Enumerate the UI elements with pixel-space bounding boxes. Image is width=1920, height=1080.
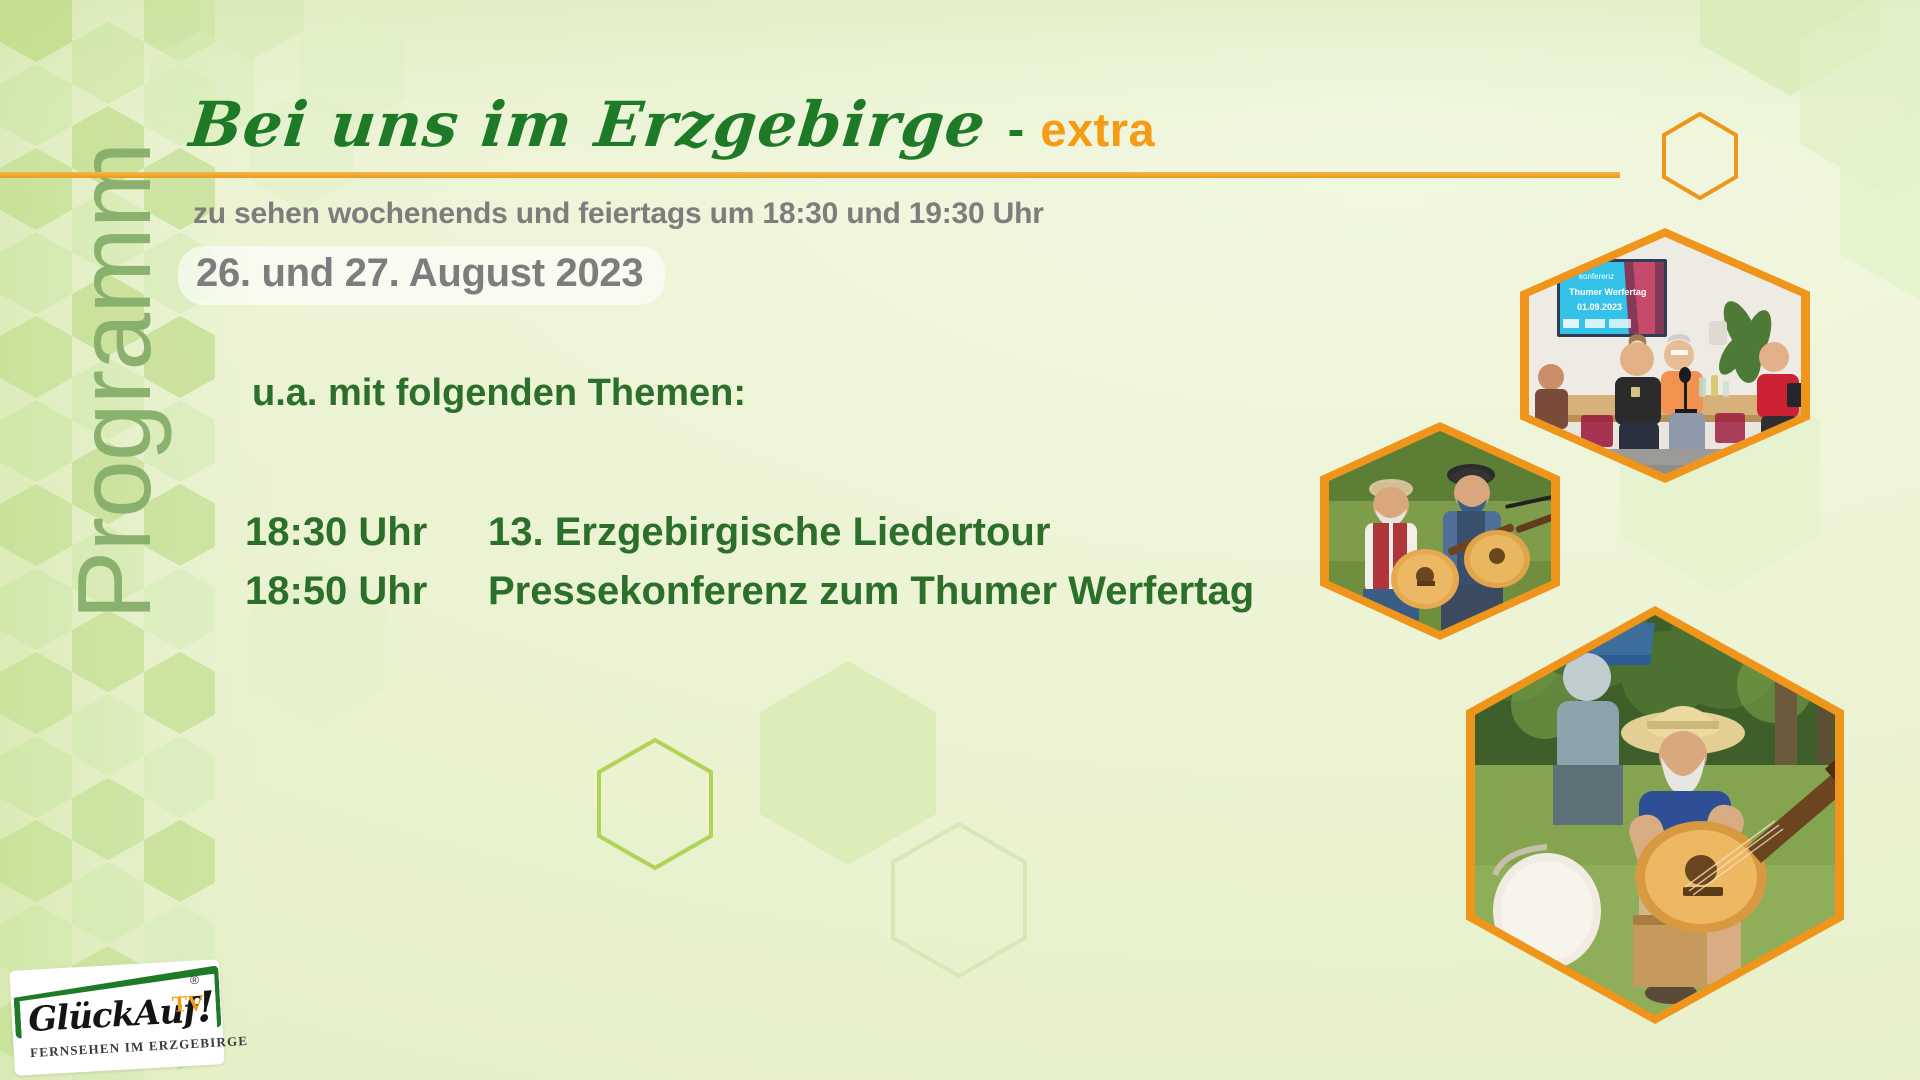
- photo-image: [1475, 615, 1835, 1015]
- date-badge: 26. und 27. August 2023: [178, 246, 665, 305]
- page-title-dash: -: [1008, 100, 1025, 158]
- bg-hex-center-filled: [760, 661, 936, 865]
- screen-caption-line1: konferenz: [1579, 272, 1614, 281]
- bg-hex-center-outline-bright: [599, 740, 711, 868]
- page-title-extra: extra: [1040, 102, 1155, 157]
- schedule-title: 13. Erzgebirgische Liedertour: [488, 510, 1050, 555]
- list-item: 18:30 Uhr 13. Erzgebirgische Liedertour: [245, 510, 1254, 555]
- schedule-title: Pressekonferenz zum Thumer Werfertag: [488, 569, 1254, 614]
- press-conference-photo: konferenz Thumer Werfertag 01.09.2023: [1520, 228, 1810, 483]
- title-underline-rule: [0, 172, 1620, 178]
- broadcast-times-subtitle: zu sehen wochenends und feiertags um 18:…: [193, 197, 1044, 231]
- list-item: 18:50 Uhr Pressekonferenz zum Thumer Wer…: [245, 569, 1254, 614]
- schedule-time: 18:50 Uhr: [245, 569, 488, 614]
- topics-intro-heading: u.a. mit folgenden Themen:: [252, 372, 746, 415]
- guitarist-with-hat-photo: [1466, 606, 1844, 1024]
- page-title-main: Bei uns im Erzgebirge: [186, 88, 989, 161]
- bg-hex-center-outline-faint: [893, 824, 1025, 976]
- schedule-list: 18:30 Uhr 13. Erzgebirgische Liedertour …: [245, 510, 1254, 628]
- sidebar-vertical-label: Programm: [63, 0, 167, 620]
- page-title: Bei uns im Erzgebirge - extra: [190, 88, 1155, 161]
- poster-canvas: Programm Bei uns im Erzgebirge - extra z…: [0, 0, 1920, 1080]
- registered-trademark-icon: ®: [190, 973, 200, 987]
- logo-word-glueck: Glück: [27, 994, 135, 1040]
- schedule-time: 18:30 Uhr: [245, 510, 488, 555]
- channel-logo[interactable]: GlückAuf! TV ® FERNSEHEN IM ERZGEBIRGE: [12, 965, 222, 1070]
- screen-caption-line2: Thumer Werfertag: [1569, 287, 1646, 297]
- screen-caption-line3: 01.09.2023: [1577, 302, 1622, 312]
- logo-tv-label: TV: [171, 990, 204, 1018]
